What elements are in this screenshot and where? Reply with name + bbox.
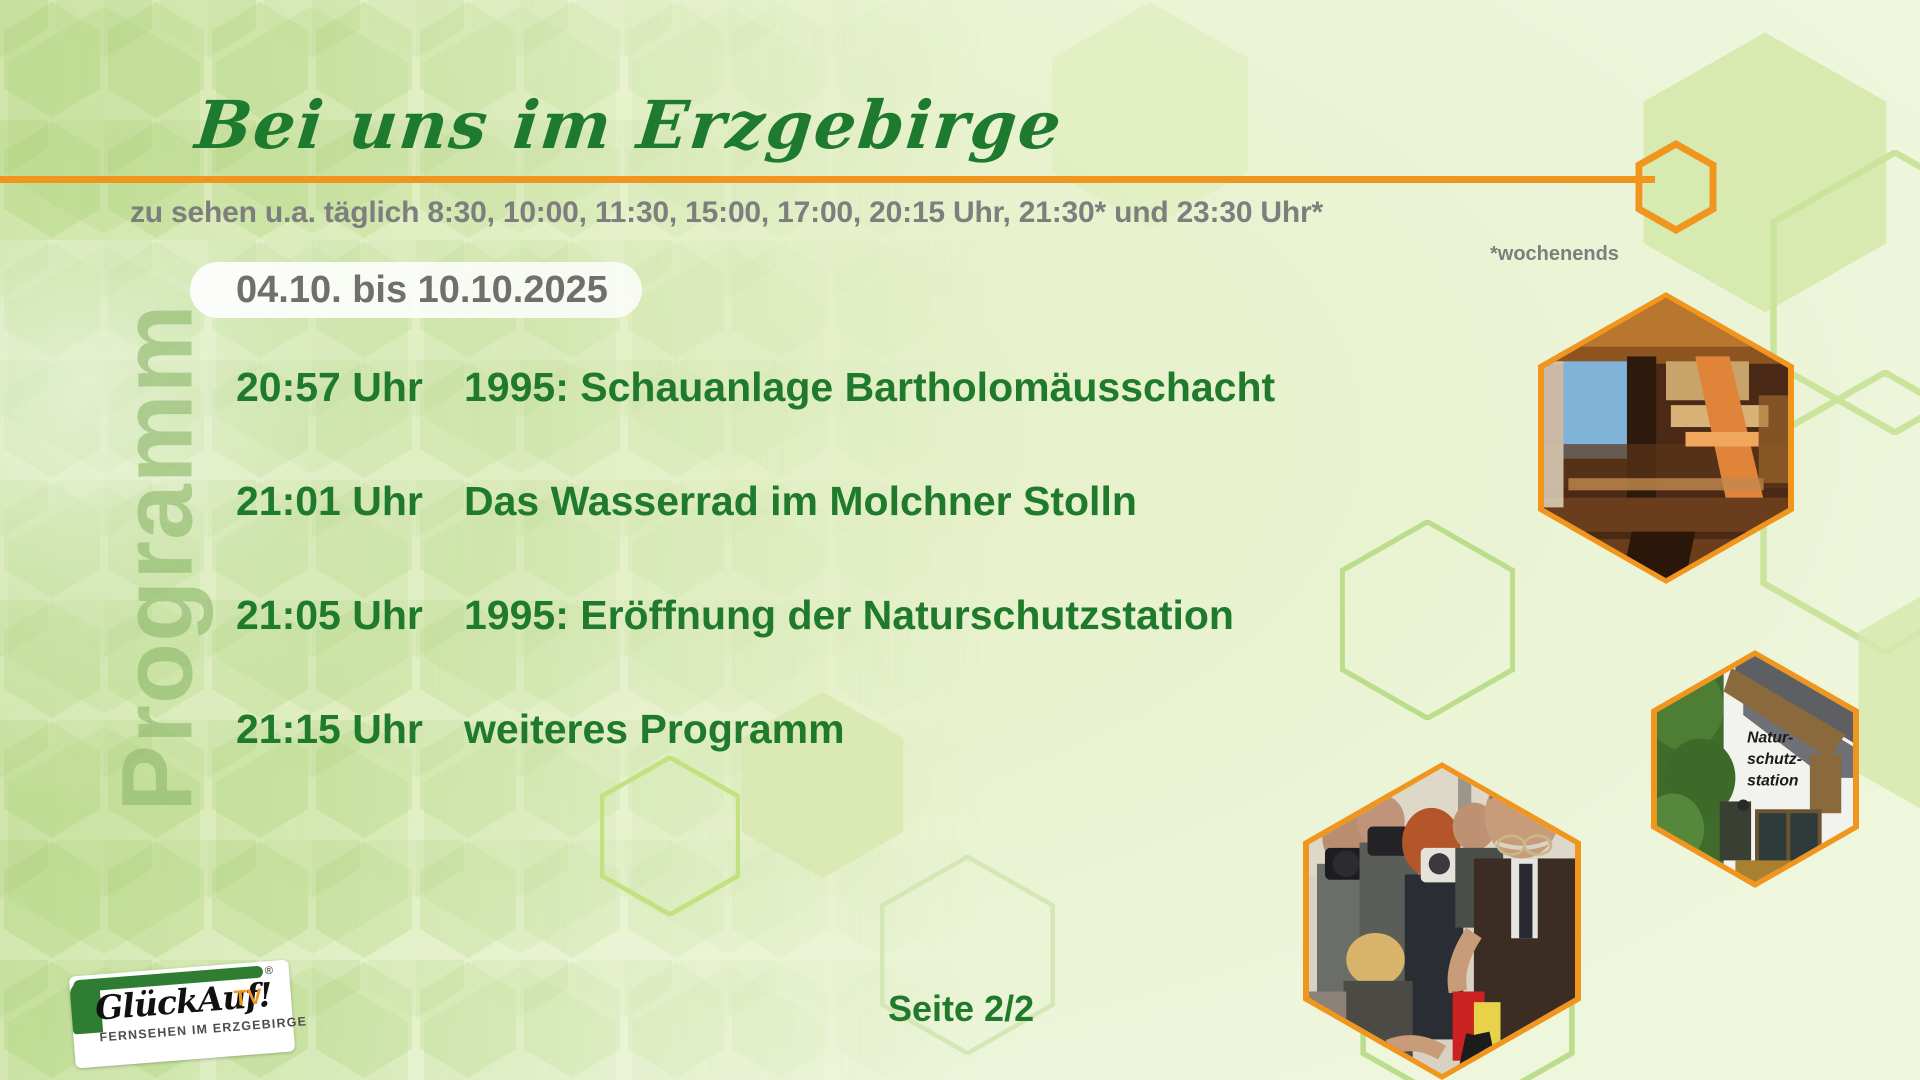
program-time: 21:05 Uhr [236,592,464,639]
svg-text:station: station [1747,773,1798,790]
logo-glueckauf-tv: GlückAuf! TV ® FERNSEHEN IM ERZGEBIRGE [69,960,296,1069]
orange-hexagon-accent [1634,140,1718,234]
program-title: Das Wasserrad im Molchner Stolln [464,478,1137,525]
logo-tv-text: TV [233,984,263,1012]
footnote-weekends: *wochenends [1490,243,1619,266]
program-list: 20:57 Uhr 1995: Schauanlage Bartholomäus… [236,364,1336,820]
orange-divider-line [0,176,1655,183]
program-title: 1995: Eröffnung der Naturschutzstation [464,592,1234,639]
page-indicator: Seite 2/2 [888,988,1034,1030]
program-row: 20:57 Uhr 1995: Schauanlage Bartholomäus… [236,364,1336,478]
svg-text:Natur-: Natur- [1747,729,1793,746]
page-title: Bei uns im Erzgebirge [192,86,1067,164]
program-row: 21:05 Uhr 1995: Eröffnung der Naturschut… [236,592,1336,706]
program-row: 21:01 Uhr Das Wasserrad im Molchner Stol… [236,478,1336,592]
program-time: 21:01 Uhr [236,478,464,525]
program-time: 21:15 Uhr [236,706,464,753]
program-row: 21:15 Uhr weiteres Programm [236,706,1336,820]
date-range-badge: 04.10. bis 10.10.2025 [190,262,642,318]
decorative-hexagon-outline [1340,520,1515,720]
svg-text:schutz-: schutz- [1747,751,1802,768]
program-time: 20:57 Uhr [236,364,464,411]
program-title: weiteres Programm [464,706,845,753]
logo-registered-mark: ® [264,965,273,978]
program-title: 1995: Schauanlage Bartholomäusschacht [464,364,1275,411]
broadcast-times-subtitle: zu sehen u.a. täglich 8:30, 10:00, 11:30… [130,196,1323,230]
tv-programm-slide: Bei uns im Erzgebirge zu sehen u.a. tägl… [0,0,1920,1080]
decorative-hexagon-filled [1855,560,1920,845]
